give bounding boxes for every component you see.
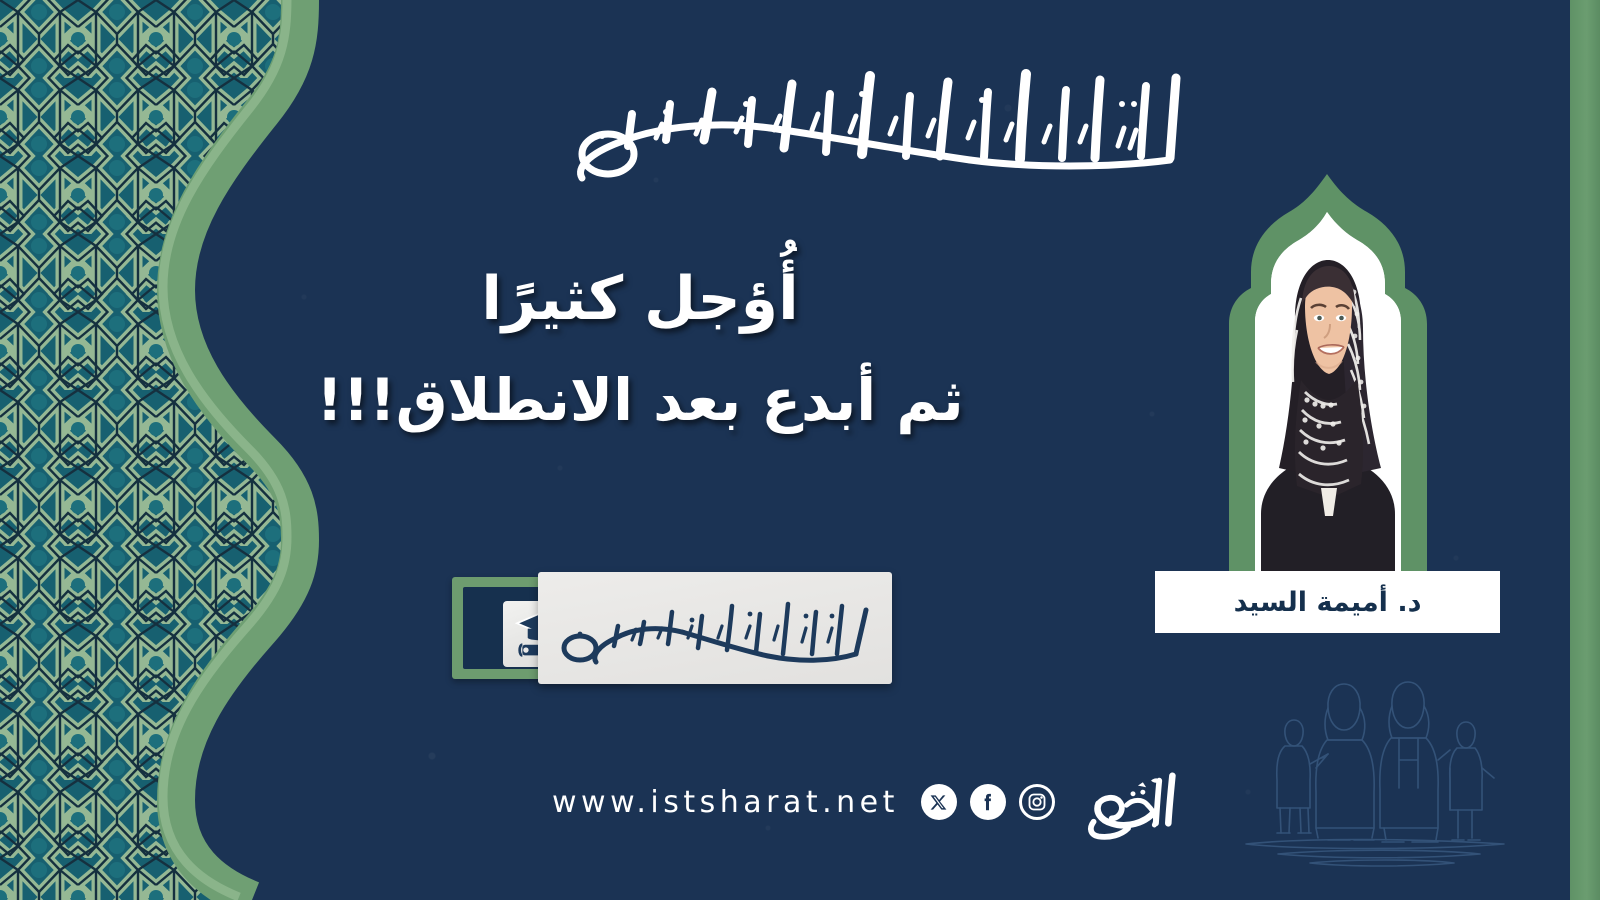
poster-canvas: بوابة الاستشارات الإلكترونية أُؤجل كثيرً… — [0, 0, 1600, 900]
header-calligraphy: بوابة الاستشارات الإلكترونية — [470, 42, 1210, 192]
portrait-photo — [1255, 212, 1401, 572]
footer: www.istsharat.net — [552, 752, 1192, 852]
headline: أُؤجل كثيرًا ثم أبدع بعد الانطلاق!!! — [290, 262, 990, 437]
social-links[interactable] — [921, 784, 1055, 820]
headline-line-2: ثم أبدع بعد الانطلاق!!! — [290, 364, 990, 437]
brand-logo-almujtama — [1069, 754, 1192, 850]
category-badge[interactable]: استشارات تربوية — [452, 572, 892, 684]
right-edge-strip — [1570, 0, 1600, 900]
instagram-icon[interactable] — [1019, 784, 1055, 820]
x-icon[interactable] — [921, 784, 957, 820]
website-url[interactable]: www.istsharat.net — [552, 785, 899, 820]
headline-line-1: أُؤجل كثيرًا — [290, 262, 990, 338]
portrait-nameplate: د. أميمة السيد — [1155, 571, 1500, 633]
facebook-icon[interactable] — [970, 784, 1006, 820]
portrait-card: د. أميمة السيد — [1155, 168, 1500, 633]
badge-label: استشارات تربوية — [538, 572, 892, 684]
family-silhouette-watermark — [1232, 668, 1522, 873]
islamic-pattern-ornament — [0, 0, 360, 900]
doctor-name: د. أميمة السيد — [1234, 587, 1422, 618]
